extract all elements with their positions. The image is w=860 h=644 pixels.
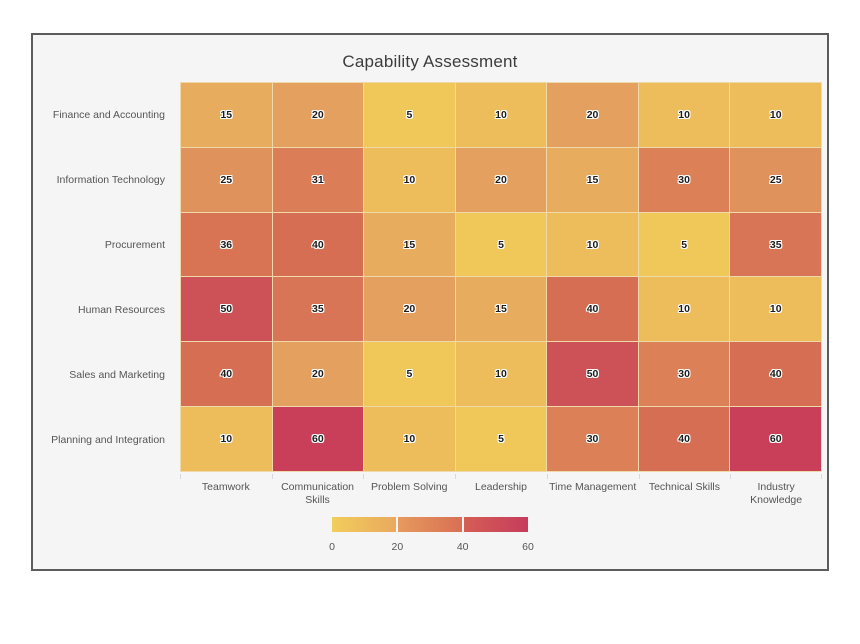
heatmap-cell-value: 25 bbox=[770, 174, 782, 186]
heatmap-cell-value: 15 bbox=[220, 109, 232, 121]
heatmap-cell-value: 50 bbox=[587, 368, 599, 380]
colorbar-segment bbox=[398, 517, 462, 532]
heatmap-cell[interactable]: 36 bbox=[181, 213, 272, 277]
x-axis-label: Communication Skills bbox=[272, 474, 364, 520]
heatmap-cell[interactable]: 35 bbox=[273, 277, 364, 341]
heatmap-cell[interactable]: 20 bbox=[273, 342, 364, 406]
x-axis-label: Time Management bbox=[547, 474, 639, 520]
heatmap-cell[interactable]: 50 bbox=[547, 342, 638, 406]
colorbar-tick-label: 20 bbox=[391, 541, 403, 553]
heatmap-cell[interactable]: 10 bbox=[730, 277, 821, 341]
heatmap-cell-value: 10 bbox=[404, 433, 416, 445]
heatmap-cell-value: 40 bbox=[312, 239, 324, 251]
x-axis-tick bbox=[363, 474, 364, 479]
heatmap-cell-value: 20 bbox=[587, 109, 599, 121]
heatmap-cell[interactable]: 10 bbox=[364, 407, 455, 471]
heatmap-cell[interactable]: 30 bbox=[547, 407, 638, 471]
y-axis-label: Planning and Integration bbox=[33, 407, 173, 472]
y-axis-label: Information Technology bbox=[33, 147, 173, 212]
heatmap-cell-value: 30 bbox=[678, 174, 690, 186]
x-axis-tick bbox=[730, 474, 731, 479]
heatmap-cell-value: 40 bbox=[770, 368, 782, 380]
chart-frame: Capability Assessment Finance and Accoun… bbox=[31, 33, 829, 571]
heatmap-cell-value: 25 bbox=[220, 174, 232, 186]
y-axis-label: Finance and Accounting bbox=[33, 82, 173, 147]
heatmap-cell-value: 10 bbox=[770, 303, 782, 315]
heatmap-cell-value: 5 bbox=[498, 239, 504, 251]
heatmap-cell-value: 10 bbox=[495, 368, 507, 380]
heatmap-cell[interactable]: 40 bbox=[639, 407, 730, 471]
heatmap-cell[interactable]: 5 bbox=[456, 407, 547, 471]
heatmap-cell[interactable]: 5 bbox=[639, 213, 730, 277]
heatmap-cell[interactable]: 15 bbox=[456, 277, 547, 341]
x-axis-tick bbox=[821, 474, 822, 479]
heatmap-cell[interactable]: 30 bbox=[639, 148, 730, 212]
heatmap-cell[interactable]: 30 bbox=[639, 342, 730, 406]
heatmap-cell-value: 31 bbox=[312, 174, 324, 186]
heatmap-cell-value: 10 bbox=[678, 303, 690, 315]
heatmap-cell-value: 10 bbox=[587, 239, 599, 251]
heatmap-cell-value: 5 bbox=[407, 368, 413, 380]
heatmap-cell[interactable]: 10 bbox=[181, 407, 272, 471]
heatmap-cell[interactable]: 40 bbox=[730, 342, 821, 406]
heatmap-cell-value: 30 bbox=[587, 433, 599, 445]
colorbar-legend: 0204060 bbox=[332, 517, 528, 565]
heatmap-cell-value: 15 bbox=[404, 239, 416, 251]
heatmap-cell[interactable]: 10 bbox=[639, 277, 730, 341]
heatmap-cell[interactable]: 10 bbox=[639, 83, 730, 147]
heatmap-cell-value: 35 bbox=[770, 239, 782, 251]
heatmap-cell[interactable]: 5 bbox=[456, 213, 547, 277]
heatmap-cell-value: 5 bbox=[681, 239, 687, 251]
heatmap-cell[interactable]: 10 bbox=[364, 148, 455, 212]
heatmap-cell[interactable]: 25 bbox=[730, 148, 821, 212]
heatmap-cell-value: 10 bbox=[220, 433, 232, 445]
heatmap-cell-value: 40 bbox=[587, 303, 599, 315]
x-axis-label: Leadership bbox=[455, 474, 547, 520]
heatmap-plot: 1520510201010253110201530253640155105355… bbox=[180, 82, 822, 472]
heatmap-cell-value: 10 bbox=[495, 109, 507, 121]
x-axis-tick bbox=[639, 474, 640, 479]
heatmap-cell[interactable]: 40 bbox=[181, 342, 272, 406]
heatmap-cell-value: 40 bbox=[220, 368, 232, 380]
heatmap-cell-value: 20 bbox=[495, 174, 507, 186]
x-axis-labels: TeamworkCommunication SkillsProblem Solv… bbox=[180, 474, 822, 520]
x-axis-label: Technical Skills bbox=[639, 474, 731, 520]
heatmap-cell-value: 10 bbox=[770, 109, 782, 121]
y-axis-label: Human Resources bbox=[33, 277, 173, 342]
heatmap-cell-value: 15 bbox=[587, 174, 599, 186]
heatmap-cell-value: 15 bbox=[495, 303, 507, 315]
x-axis-tick bbox=[455, 474, 456, 479]
heatmap-cell-value: 50 bbox=[220, 303, 232, 315]
heatmap-cell[interactable]: 15 bbox=[181, 83, 272, 147]
heatmap-cell[interactable]: 5 bbox=[364, 342, 455, 406]
heatmap-cell-value: 10 bbox=[678, 109, 690, 121]
heatmap-cell-value: 35 bbox=[312, 303, 324, 315]
heatmap-cell[interactable]: 25 bbox=[181, 148, 272, 212]
chart-title: Capability Assessment bbox=[33, 52, 827, 72]
x-axis-tick bbox=[180, 474, 181, 479]
heatmap-cell[interactable]: 15 bbox=[547, 148, 638, 212]
heatmap-cell-value: 60 bbox=[312, 433, 324, 445]
heatmap-cell[interactable]: 10 bbox=[456, 83, 547, 147]
colorbar-segment bbox=[332, 517, 396, 532]
y-axis-label: Sales and Marketing bbox=[33, 342, 173, 407]
colorbar-tick-labels: 0204060 bbox=[332, 541, 528, 561]
heatmap-cell-value: 5 bbox=[407, 109, 413, 121]
colorbar-tick-label: 40 bbox=[457, 541, 469, 553]
heatmap-cell-value: 20 bbox=[404, 303, 416, 315]
x-axis-label: Teamwork bbox=[180, 474, 272, 520]
heatmap-cell-value: 36 bbox=[220, 239, 232, 251]
heatmap-cell[interactable]: 10 bbox=[547, 213, 638, 277]
heatmap-cell[interactable]: 20 bbox=[273, 83, 364, 147]
colorbar-gradient bbox=[332, 517, 528, 532]
heatmap-cell[interactable]: 40 bbox=[273, 213, 364, 277]
colorbar-tick-label: 0 bbox=[329, 541, 335, 553]
heatmap-cell[interactable]: 15 bbox=[364, 213, 455, 277]
heatmap-cell[interactable]: 20 bbox=[456, 148, 547, 212]
heatmap-cell[interactable]: 50 bbox=[181, 277, 272, 341]
heatmap-cell[interactable]: 60 bbox=[730, 407, 821, 471]
heatmap-cell[interactable]: 20 bbox=[364, 277, 455, 341]
heatmap-cell-value: 10 bbox=[404, 174, 416, 186]
heatmap-cell-value: 5 bbox=[498, 433, 504, 445]
y-axis-label: Procurement bbox=[33, 212, 173, 277]
heatmap-grid: 1520510201010253110201530253640155105355… bbox=[180, 82, 822, 472]
heatmap-cell[interactable]: 5 bbox=[364, 83, 455, 147]
x-axis-tick bbox=[272, 474, 273, 479]
colorbar-segment bbox=[464, 517, 528, 532]
x-axis-tick bbox=[547, 474, 548, 479]
heatmap-cell[interactable]: 40 bbox=[547, 277, 638, 341]
heatmap-cell[interactable]: 35 bbox=[730, 213, 821, 277]
heatmap-cell-value: 20 bbox=[312, 109, 324, 121]
x-axis-label: Industry Knowledge bbox=[730, 474, 822, 520]
heatmap-cell-value: 40 bbox=[678, 433, 690, 445]
heatmap-cell-value: 20 bbox=[312, 368, 324, 380]
x-axis-label: Problem Solving bbox=[363, 474, 455, 520]
heatmap-cell[interactable]: 10 bbox=[730, 83, 821, 147]
y-axis-labels: Finance and AccountingInformation Techno… bbox=[33, 82, 173, 472]
heatmap-cell-value: 60 bbox=[770, 433, 782, 445]
heatmap-cell[interactable]: 20 bbox=[547, 83, 638, 147]
heatmap-cell[interactable]: 10 bbox=[456, 342, 547, 406]
colorbar-tick-label: 60 bbox=[522, 541, 534, 553]
heatmap-cell-value: 30 bbox=[678, 368, 690, 380]
heatmap-cell[interactable]: 60 bbox=[273, 407, 364, 471]
heatmap-cell[interactable]: 31 bbox=[273, 148, 364, 212]
